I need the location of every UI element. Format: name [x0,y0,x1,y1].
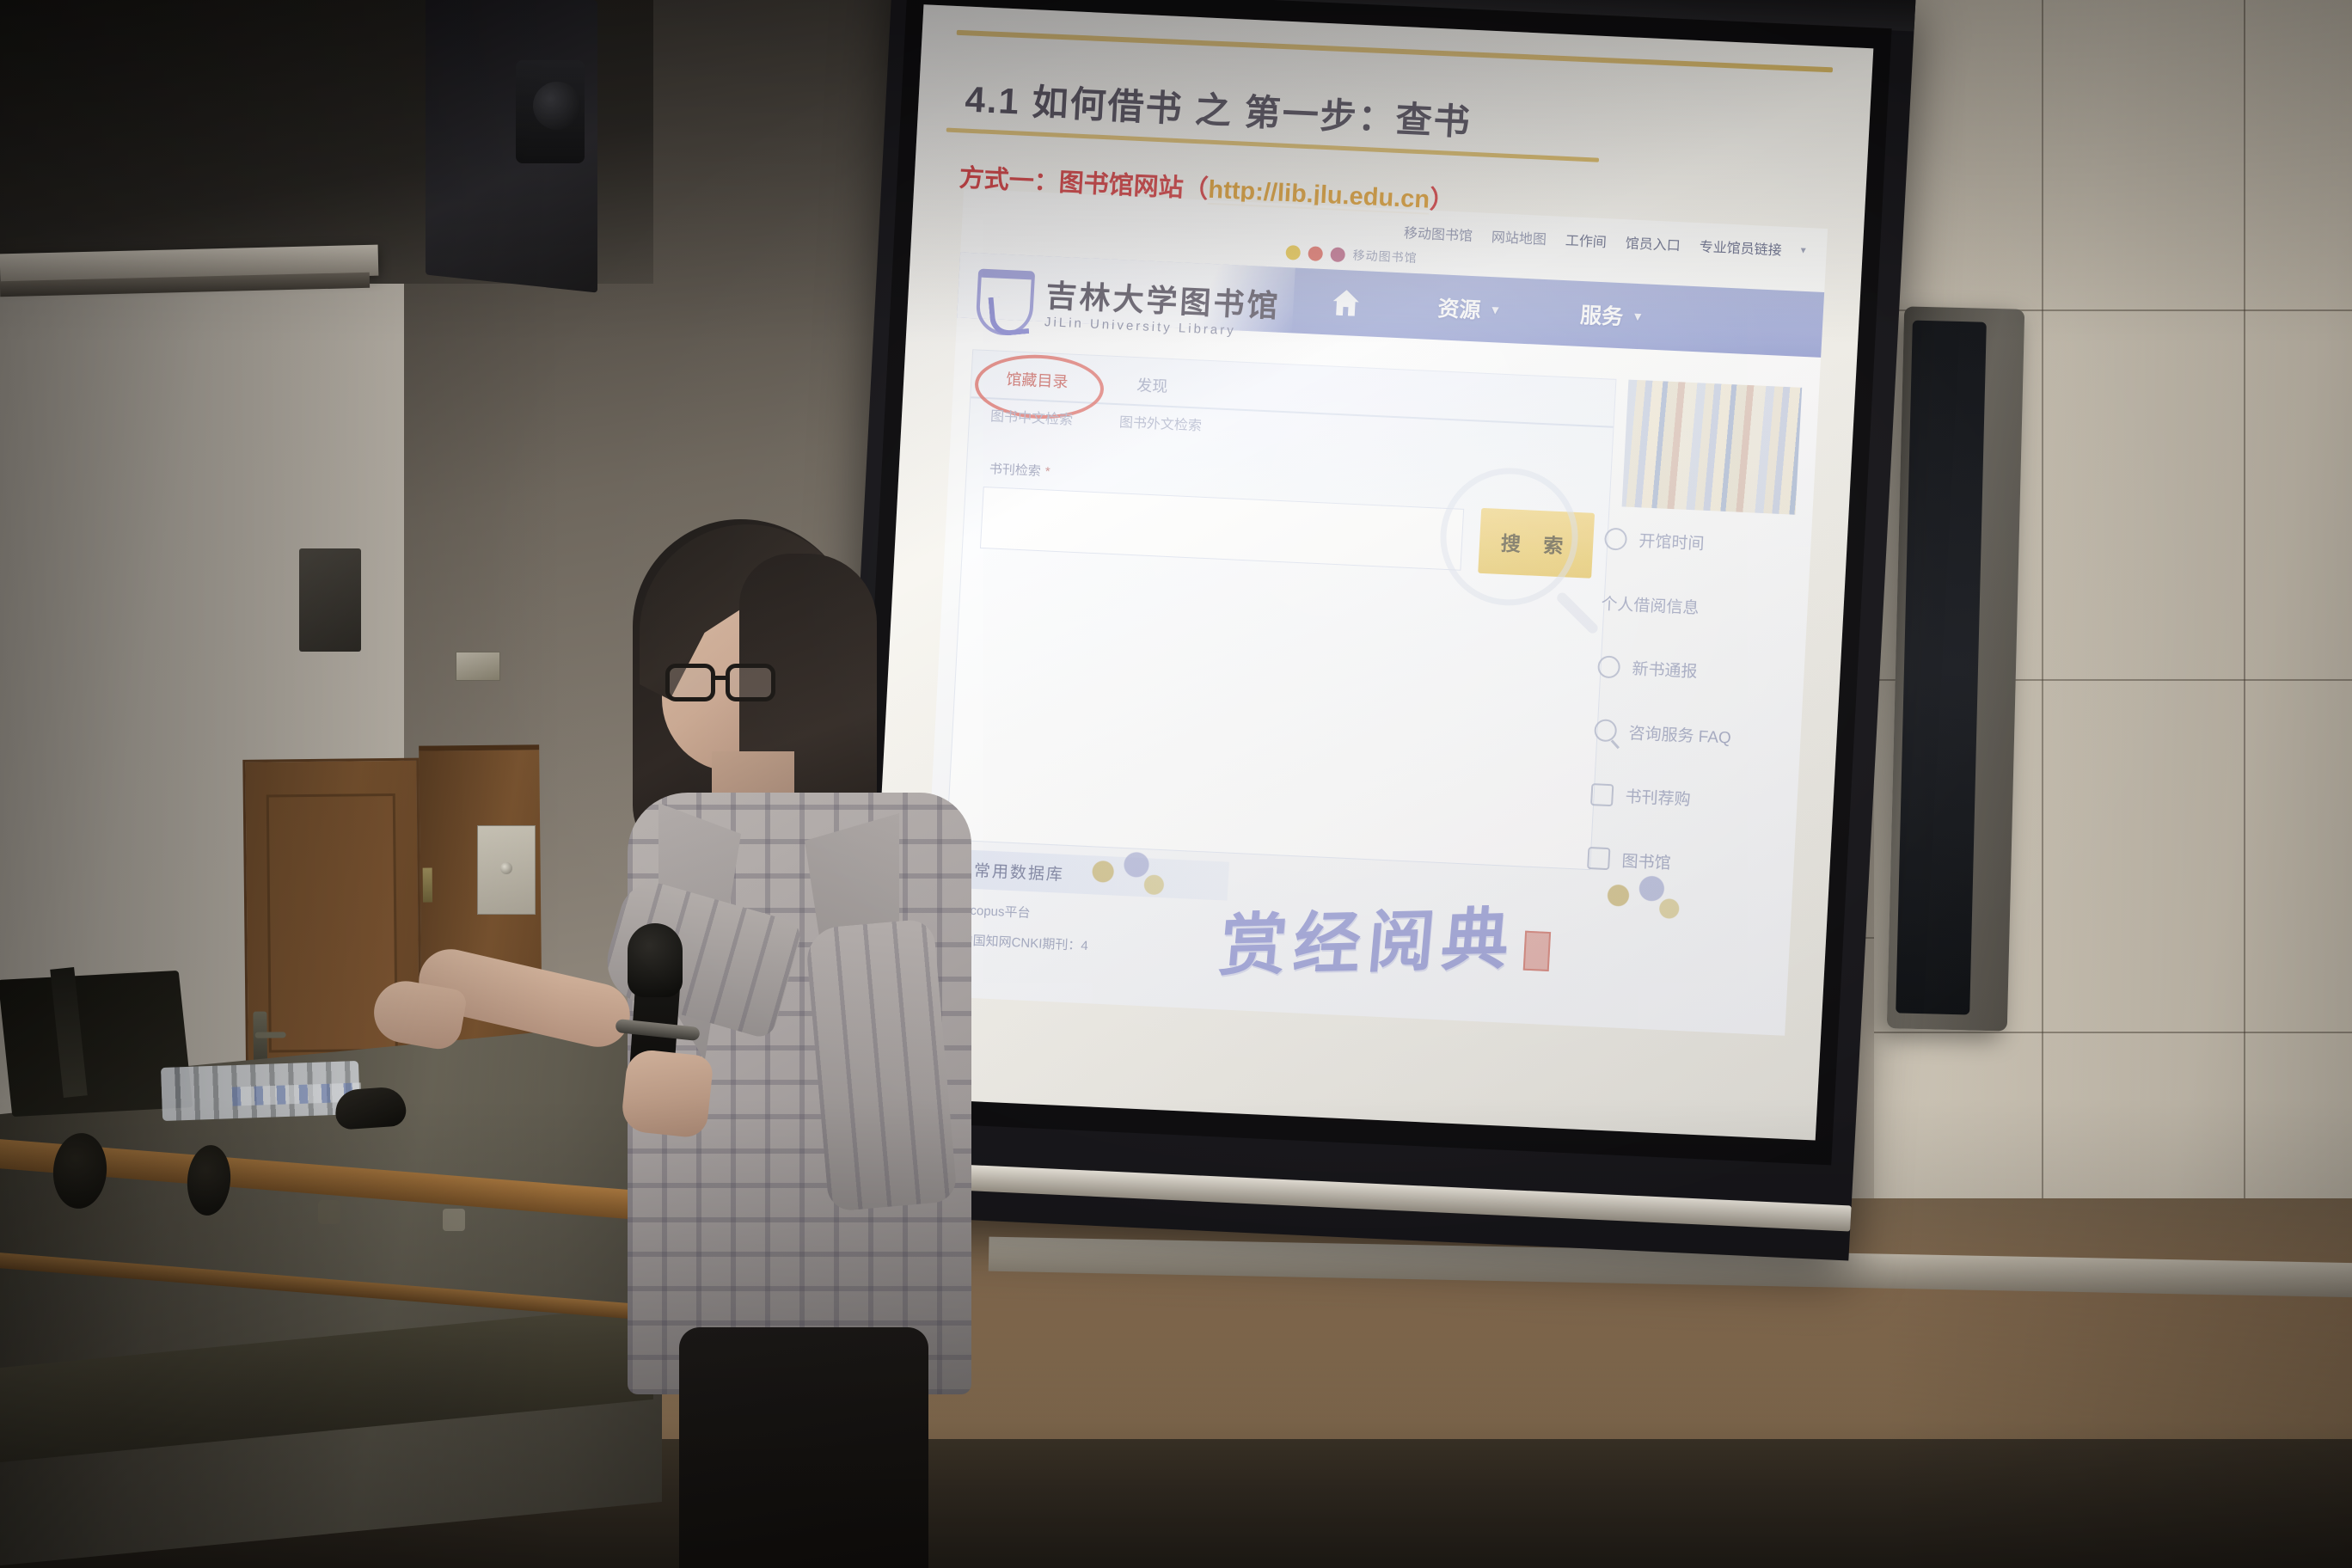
presenter [602,519,1083,1568]
glasses-lens-right [726,664,775,701]
side-item-my-loans[interactable]: 个人借阅信息 [1601,591,1796,622]
utility-link-subject-librarian[interactable]: 专业馆员链接 [1699,235,1782,259]
side-item-new-books-label: 新书通报 [1632,656,1698,682]
site-side-menu: 开馆时间 个人借阅信息 新书通报 咨询服务 FAQ [1587,522,1800,885]
books-decoration-image [1622,380,1803,515]
chevron-down-icon[interactable]: ▾ [1800,244,1806,256]
badge-icon-purple [1330,247,1345,262]
lecture-hall-scene: 4.1 如何借书 之 第一步：查书 方式一：图书馆网站（http://lib.j… [0,0,2352,1568]
wall-mounted-box[interactable] [477,825,536,915]
side-item-opening-hours[interactable]: 开馆时间 [1604,526,1799,558]
utility-link-workroom[interactable]: 工作间 [1565,229,1607,251]
side-item-recommend[interactable]: 书刊荐购 [1590,782,1785,814]
nav-item-resources-label: 资源 [1437,291,1482,324]
chevron-down-icon: ▼ [1489,303,1502,317]
subtab-foreign-books[interactable]: 图书外文检索 [1118,410,1202,451]
computer-mouse[interactable] [334,1086,407,1130]
badge-icon-yellow [1285,244,1301,260]
banner-ornament-right-icon [1585,870,1692,934]
new-book-icon [1597,655,1620,678]
side-item-my-loans-label: 个人借阅信息 [1601,591,1700,618]
banner-ornament-left-icon [1070,846,1177,910]
glasses-icon [665,664,779,705]
badge-icon-red [1308,246,1323,261]
side-item-library-label: 图书馆 [1621,848,1671,874]
seal-icon [1523,931,1551,971]
library-icon [1587,847,1610,870]
wall-speaker [1887,306,2024,1031]
search-icon [1594,719,1617,742]
microphone-head-icon [628,923,683,997]
clock-icon [1604,527,1627,550]
projector-mount-knob [533,82,581,130]
calligraphy-text: 赏经阅典 [1216,885,1521,989]
lectern-port-3 [318,1200,340,1224]
magnifier-icon [1436,465,1581,609]
utility-link-sitemap[interactable]: 网站地图 [1491,225,1547,248]
subtab-chinese-books[interactable]: 图书中文检索 [989,404,1074,445]
tab-discovery[interactable]: 发现 [1101,371,1203,407]
search-field-label: 书刊检索* [989,459,1050,480]
presenter-arm-left [805,918,958,1212]
badge-row-text: 移动图书馆 [1352,247,1418,266]
home-icon [1332,290,1360,316]
required-mark: * [1044,464,1050,479]
search-subtabs: 图书中文检索 图书外文检索 [969,403,1203,451]
side-item-faq-label: 咨询服务 FAQ [1628,720,1732,748]
glasses-lens-left [665,664,715,701]
utility-link-mobile-library[interactable]: 移动图书馆 [1403,221,1473,245]
wall-vent [299,548,361,652]
calligraphy-banner: 赏经阅典 [1177,851,1589,1020]
utility-link-staff-entry[interactable]: 馆员入口 [1625,231,1681,254]
tab-catalog[interactable]: 馆藏目录 [971,365,1103,402]
lectern-port-4 [443,1209,465,1231]
search-field-label-text: 书刊检索 [989,462,1041,479]
presenter-legs [679,1327,928,1568]
nav-item-home[interactable] [1293,287,1399,318]
chevron-down-icon: ▼ [1632,309,1645,324]
nav-item-resources[interactable]: 资源 ▼ [1398,290,1542,328]
lectern [0,983,688,1568]
side-item-opening-hours-label: 开馆时间 [1638,528,1705,554]
library-emblem-icon [975,268,1035,336]
presenter-hand-holding-mic [620,1048,714,1139]
nav-item-services-label: 服务 [1579,298,1624,331]
door-hinge-upper [423,868,432,903]
side-item-recommend-label: 书刊荐购 [1625,784,1691,810]
tab-discovery-label: 发现 [1136,377,1168,395]
side-item-faq[interactable]: 咨询服务 FAQ [1594,719,1789,750]
book-icon [1590,783,1614,806]
library-logo[interactable]: 吉林大学图书馆 JiLin University Library [975,268,1282,347]
wall-switch-plate[interactable] [456,652,500,681]
side-item-new-books[interactable]: 新书通报 [1597,654,1792,686]
nav-item-services[interactable]: 服务 ▼ [1540,297,1684,334]
